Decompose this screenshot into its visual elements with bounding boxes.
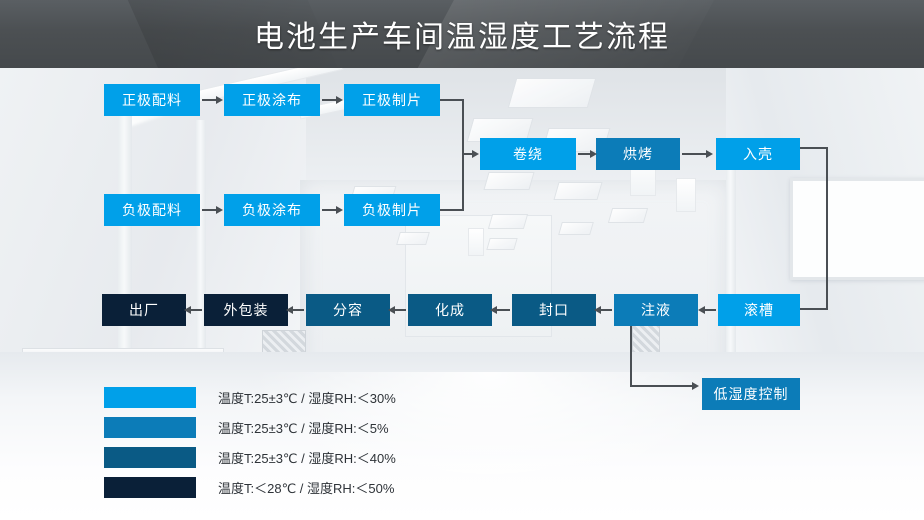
title-banner: 电池生产车间温湿度工艺流程 <box>0 0 924 68</box>
process-box-cathode-batching[interactable]: 正极配料 <box>104 84 200 116</box>
connector-line <box>798 308 828 310</box>
arrow-head <box>594 306 601 314</box>
connector-line <box>682 153 708 155</box>
legend-item: 温度T:25±3℃ / 湿度RH:＜40% <box>104 442 524 472</box>
legend-label-level4: 温度T:＜28℃ / 湿度RH:＜50% <box>218 478 394 497</box>
legend-item: 温度T:25±3℃ / 湿度RH:＜5% <box>104 412 524 442</box>
legend-label-level2: 温度T:25±3℃ / 湿度RH:＜5% <box>218 418 389 437</box>
connector-line <box>630 326 632 386</box>
ceiling-light-tube <box>676 178 696 212</box>
slide-canvas: 电池生产车间温湿度工艺流程 正极配料 正极涂布 正极制片 负极配料 负极涂布 负… <box>0 0 924 520</box>
arrow-head <box>490 306 497 314</box>
ceiling-light-panel <box>558 222 594 235</box>
arrow-head <box>216 96 223 104</box>
legend-item: 温度T:25±3℃ / 湿度RH:＜30% <box>104 382 524 412</box>
arrow-head <box>184 306 191 314</box>
process-box-shipment[interactable]: 出厂 <box>102 294 186 326</box>
process-box-outer-packaging[interactable]: 外包装 <box>204 294 288 326</box>
arrow-head <box>336 206 343 214</box>
process-box-low-humidity-control[interactable]: 低湿度控制 <box>702 378 800 410</box>
page-title: 电池生产车间温湿度工艺流程 <box>0 0 924 68</box>
ceiling-light-panel <box>508 78 597 108</box>
process-box-winding[interactable]: 卷绕 <box>480 138 576 170</box>
connector-line <box>600 309 612 311</box>
legend-swatch-level1 <box>104 387 196 408</box>
ceiling-light-panel <box>488 214 528 229</box>
process-box-anode-batching[interactable]: 负极配料 <box>104 194 200 226</box>
process-box-cathode-slicing[interactable]: 正极制片 <box>344 84 440 116</box>
legend: 温度T:25±3℃ / 湿度RH:＜30% 温度T:25±3℃ / 湿度RH:＜… <box>104 382 524 502</box>
process-box-anode-slicing[interactable]: 负极制片 <box>344 194 440 226</box>
wall-pillar <box>726 160 736 370</box>
legend-label-level3: 温度T:25±3℃ / 湿度RH:＜40% <box>218 448 396 467</box>
arrow-head <box>388 306 395 314</box>
arrow-head <box>706 150 713 158</box>
connector-line <box>190 309 202 311</box>
ceiling-light-tube <box>468 228 484 256</box>
arrow-head <box>286 306 293 314</box>
process-box-casing[interactable]: 入壳 <box>716 138 800 170</box>
connector-line <box>630 385 694 387</box>
legend-swatch-level2 <box>104 417 196 438</box>
ceiling-light-panel <box>396 232 430 245</box>
connector-line <box>440 99 464 101</box>
whiteboard <box>790 178 924 280</box>
arrow-head <box>216 206 223 214</box>
legend-swatch-level4 <box>104 477 196 498</box>
process-box-cathode-coating[interactable]: 正极涂布 <box>224 84 320 116</box>
process-box-sealing[interactable]: 封口 <box>512 294 596 326</box>
arrow-head <box>336 96 343 104</box>
connector-line <box>394 309 406 311</box>
connector-line <box>496 309 510 311</box>
arrow-head <box>590 150 597 158</box>
arrow-head <box>472 150 479 158</box>
process-box-grooving[interactable]: 滚槽 <box>718 294 800 326</box>
process-box-anode-coating[interactable]: 负极涂布 <box>224 194 320 226</box>
ceiling-light-panel <box>486 238 517 250</box>
ceiling-light-panel <box>553 182 602 200</box>
arrow-head <box>692 382 699 390</box>
process-box-filling[interactable]: 注液 <box>614 294 698 326</box>
ceiling-light-panel <box>608 208 648 223</box>
connector-line <box>292 309 304 311</box>
legend-item: 温度T:＜28℃ / 湿度RH:＜50% <box>104 472 524 502</box>
legend-label-level1: 温度T:25±3℃ / 湿度RH:＜30% <box>218 388 396 407</box>
legend-swatch-level3 <box>104 447 196 468</box>
arrow-head <box>698 306 705 314</box>
ceiling-light-panel <box>483 172 534 190</box>
connector-line <box>800 147 828 149</box>
process-box-grading[interactable]: 分容 <box>306 294 390 326</box>
connector-line <box>826 147 828 309</box>
connector-line <box>462 99 464 211</box>
process-box-formation[interactable]: 化成 <box>408 294 492 326</box>
process-box-baking[interactable]: 烘烤 <box>596 138 680 170</box>
connector-line <box>440 209 464 211</box>
